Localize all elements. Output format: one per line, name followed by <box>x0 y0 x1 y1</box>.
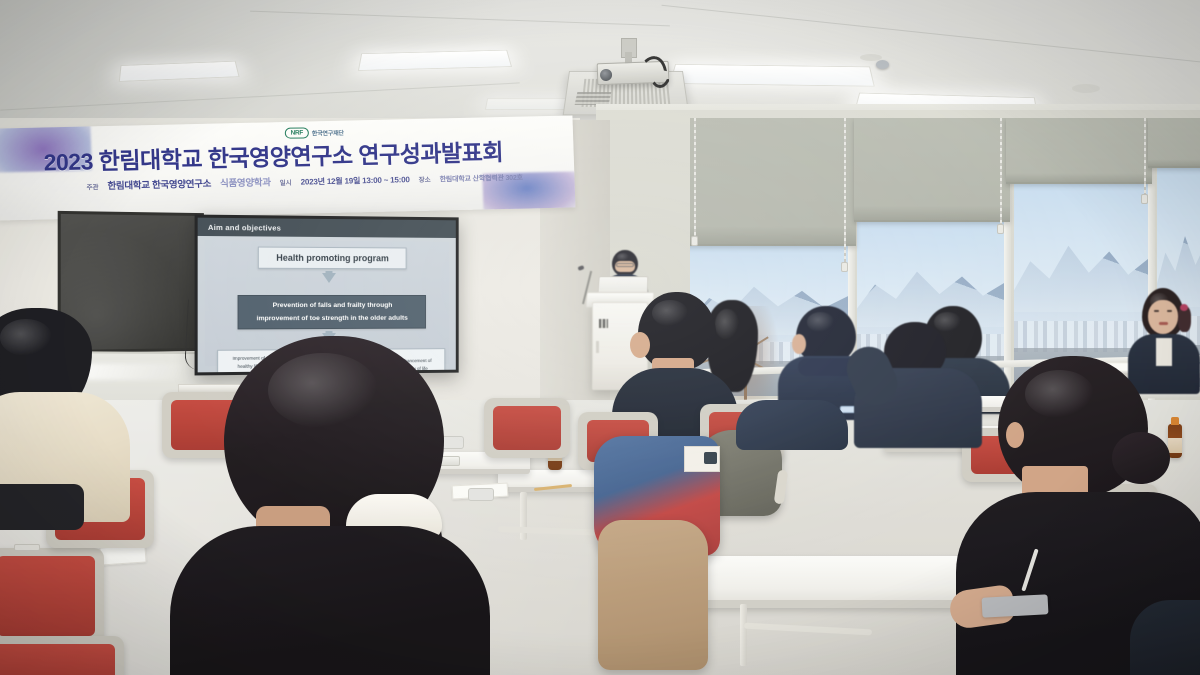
slide-arrow-down-icon <box>322 273 336 283</box>
hair-highlight <box>652 300 688 327</box>
blind-chain[interactable] <box>1144 118 1146 200</box>
inner-shirt <box>0 484 84 530</box>
tablet-device[interactable] <box>982 594 1049 617</box>
hair-tie <box>1180 304 1188 311</box>
banner-host: 한림대학교 한국영양연구소 <box>107 176 211 192</box>
backpack-tag-strip <box>704 452 717 464</box>
ear <box>630 332 650 358</box>
hair-highlight <box>807 312 835 332</box>
slide-node-top: Health promoting program <box>258 247 407 270</box>
banner-dept: 식품영양학과 <box>220 174 271 189</box>
slide-node-main-line2: improvement of toe strength in the older… <box>257 313 408 323</box>
blind-weight <box>1141 194 1148 204</box>
person-foreground-bun <box>200 336 500 675</box>
hair-bun <box>1112 432 1170 484</box>
eye <box>1167 310 1172 312</box>
eye <box>1154 310 1159 312</box>
slide-node-main: Prevention of falls and frailty through … <box>238 295 426 329</box>
event-banner: NRF 한국연구재단 2023 한림대학교 한국영양연구소 연구성과발표회 주관… <box>0 115 575 220</box>
hair-highlight <box>1025 370 1094 418</box>
banner-date-label: 일시 <box>280 177 292 187</box>
attendee-face <box>1148 300 1178 334</box>
blind-chain[interactable] <box>694 118 696 242</box>
seminar-room-photo: NRF 한국연구재단 2023 한림대학교 한국영양연구소 연구성과발표회 주관… <box>0 0 1200 675</box>
podium-control-panel[interactable] <box>599 319 608 328</box>
fire-sprinkler-icon <box>876 60 889 69</box>
desk-leg <box>740 604 747 666</box>
chair-seat-pad <box>0 556 95 636</box>
ear <box>792 334 806 354</box>
banner-host-label: 주관 <box>86 181 98 191</box>
banner-place-label: 장소 <box>418 174 430 184</box>
blind-weight <box>997 224 1004 234</box>
roller-blind[interactable] <box>690 118 856 246</box>
slide-node-main-line1: Prevention of falls and frailty through <box>273 301 393 310</box>
backpack-navy <box>736 400 848 450</box>
backpack-beige <box>598 520 708 670</box>
roller-blind[interactable] <box>854 118 1010 222</box>
roller-blind[interactable] <box>1148 118 1200 168</box>
blind-chain[interactable] <box>844 118 846 268</box>
roller-blind[interactable] <box>1006 118 1152 184</box>
podium-latch <box>596 341 599 353</box>
chair[interactable] <box>0 548 104 644</box>
projector-lens-icon <box>600 69 612 81</box>
slide-title: Aim and objectives <box>208 222 281 232</box>
smoke-detector-icon <box>1072 84 1100 93</box>
glasses-icon <box>616 263 634 267</box>
blind-weight <box>691 236 698 246</box>
blind-chain[interactable] <box>1000 118 1002 230</box>
blind-weight <box>841 262 848 272</box>
smoke-detector-icon <box>860 54 882 61</box>
attendee-body <box>1130 600 1200 675</box>
chair-label <box>14 544 40 551</box>
chair[interactable] <box>0 636 124 675</box>
ear <box>1006 422 1024 448</box>
person-blue-jacket <box>854 322 982 448</box>
person-cream-sweater <box>0 308 140 528</box>
ceiling-light-panel <box>669 64 874 87</box>
hair-highlight <box>268 353 378 429</box>
chair-seat-pad <box>493 406 561 450</box>
banner-place: 한림대학교 산학협력관 302호 <box>439 173 523 185</box>
mouth <box>1159 322 1168 325</box>
banner-date: 2023년 12월 19일 13:00 ~ 15:00 <box>300 174 409 187</box>
person-right-edge <box>1130 600 1200 675</box>
slide-header-bar: Aim and objectives <box>198 218 456 238</box>
attendee-body <box>170 526 490 675</box>
chair-seat-pad <box>0 644 115 675</box>
hair-highlight <box>0 319 52 356</box>
